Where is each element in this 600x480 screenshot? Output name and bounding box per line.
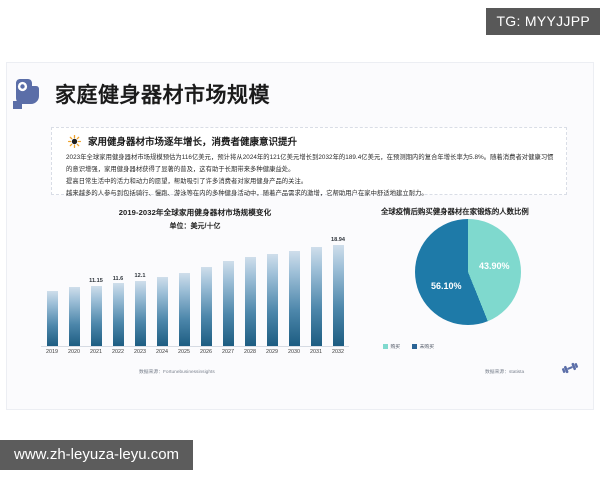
x-axis-tick-label: 2032 — [327, 349, 349, 355]
summary-heading-row: 家用健身器材市场逐年增长，消费者健康意识提升 — [68, 134, 556, 148]
pie-slice-label-not-purchased: 56.10% — [431, 281, 462, 291]
bar — [179, 273, 190, 347]
summary-heading: 家用健身器材市场逐年增长，消费者健康意识提升 — [88, 134, 297, 148]
bar — [267, 254, 278, 347]
telegram-watermark-badge: TG: MYYJJPP — [486, 8, 600, 35]
bar — [69, 287, 80, 347]
bar-column: 12.1 — [129, 237, 151, 347]
charts-row: 2019-2032年全球家用健身器材市场规模变化 单位：美元/十亿 11.151… — [35, 203, 587, 381]
summary-paragraph: 越来越多的人参与到包括骑行、慢跑、游泳等在内的多种健身活动中，随着产品需求的激增… — [66, 188, 556, 200]
bar-series: 11.1511.612.118.94 — [41, 237, 349, 347]
bar-chart-x-axis: 2019202020212022202320242025202620272028… — [41, 349, 349, 355]
x-axis-tick-label: 2025 — [173, 349, 195, 355]
bar-column — [217, 237, 239, 347]
slide-content: 家庭健身器材市场规模 — [29, 71, 581, 405]
x-axis-tick-label: 2020 — [63, 349, 85, 355]
x-axis-tick-label: 2027 — [217, 349, 239, 355]
dumbbell-icon — [561, 361, 579, 375]
bar — [91, 286, 102, 347]
site-watermark: www.zh-leyuza-leyu.com — [0, 440, 193, 470]
bar-column — [283, 237, 305, 347]
bar — [289, 251, 300, 347]
x-axis-tick-label: 2022 — [107, 349, 129, 355]
pie-graphic — [415, 219, 521, 325]
bar-column — [239, 237, 261, 347]
x-axis-tick-label: 2028 — [239, 349, 261, 355]
legend-swatch-not-purchased — [412, 344, 417, 349]
x-axis-tick-label: 2026 — [195, 349, 217, 355]
whistle-logo-icon — [13, 79, 39, 109]
summary-text-panel: 家用健身器材市场逐年增长，消费者健康意识提升 2023年全球家用健身器材市场规模… — [51, 127, 567, 195]
bar-chart-title: 2019-2032年全球家用健身器材市场规模变化 — [35, 207, 355, 218]
bar-column — [305, 237, 327, 347]
x-axis-tick-label: 2029 — [261, 349, 283, 355]
bar — [245, 257, 256, 347]
legend-label-not-purchased: 未购买 — [420, 343, 434, 350]
bar-value-label: 11.15 — [89, 278, 103, 284]
pie-chart-plot: 43.90% 56.10% — [415, 219, 521, 325]
legend-item-not-purchased: 未购买 — [412, 343, 434, 350]
bar-column — [63, 237, 85, 347]
bar-value-label: 11.6 — [113, 276, 124, 282]
slide-header: 家庭健身器材市场规模 — [29, 71, 581, 115]
summary-paragraph: 提高日常生活中的活力和动力的愿望，帮助吸引了许多消费者对家用健身产品的关注。 — [66, 176, 556, 188]
legend-label-purchased: 购买 — [391, 343, 401, 350]
bar-value-label: 18.94 — [331, 237, 345, 243]
pie-chart-card: 全球疫情后购买健身器材在家锻炼的人数比例 43.90% 56.10% 购买 未购… — [375, 203, 587, 381]
pie-chart-legend: 购买 未购买 — [383, 343, 434, 350]
page-title: 家庭健身器材市场规模 — [55, 79, 270, 109]
bar-chart-card: 2019-2032年全球家用健身器材市场规模变化 单位：美元/十亿 11.151… — [35, 203, 355, 381]
bar — [135, 281, 146, 348]
bar-column — [261, 237, 283, 347]
bar-chart-source-note: 数据来源：Fortunebusinessinsights — [139, 368, 215, 375]
bar-chart-plot: 11.1511.612.118.94 — [41, 237, 349, 347]
bar — [113, 283, 124, 347]
pie-chart-source-note: 数据来源：statista — [485, 368, 524, 375]
x-axis-tick-label: 2019 — [41, 349, 63, 355]
x-axis-tick-label: 2031 — [305, 349, 327, 355]
pie-slice-label-purchased: 43.90% — [479, 261, 510, 271]
bar-chart-subtitle: 单位：美元/十亿 — [35, 221, 355, 231]
summary-body: 2023年全球家用健身器材市场规模预估为116亿美元，预计将从2024年的121… — [66, 152, 556, 200]
bar — [47, 291, 58, 347]
sun-icon — [68, 135, 81, 148]
legend-swatch-purchased — [383, 344, 388, 349]
bar — [311, 247, 322, 347]
bar-column — [173, 237, 195, 347]
bar — [333, 245, 344, 348]
x-axis-tick-label: 2024 — [151, 349, 173, 355]
bar — [201, 267, 212, 347]
bar-column — [41, 237, 63, 347]
bar-column: 18.94 — [327, 237, 349, 347]
slide-canvas: 家庭健身器材市场规模 — [6, 62, 594, 410]
x-axis-tick-label: 2023 — [129, 349, 151, 355]
legend-item-purchased: 购买 — [383, 343, 400, 350]
x-axis-tick-label: 2021 — [85, 349, 107, 355]
summary-paragraph: 2023年全球家用健身器材市场规模预估为116亿美元，预计将从2024年的121… — [66, 152, 556, 176]
bar — [223, 261, 234, 347]
bar-column: 11.15 — [85, 237, 107, 347]
x-axis-tick-label: 2030 — [283, 349, 305, 355]
bar-chart-baseline — [41, 346, 349, 347]
bar-column: 11.6 — [107, 237, 129, 347]
bar-column — [151, 237, 173, 347]
bar-column — [195, 237, 217, 347]
bar-value-label: 12.1 — [135, 273, 146, 279]
bar — [157, 277, 168, 347]
pie-chart-title: 全球疫情后购买健身器材在家锻炼的人数比例 — [381, 206, 587, 217]
